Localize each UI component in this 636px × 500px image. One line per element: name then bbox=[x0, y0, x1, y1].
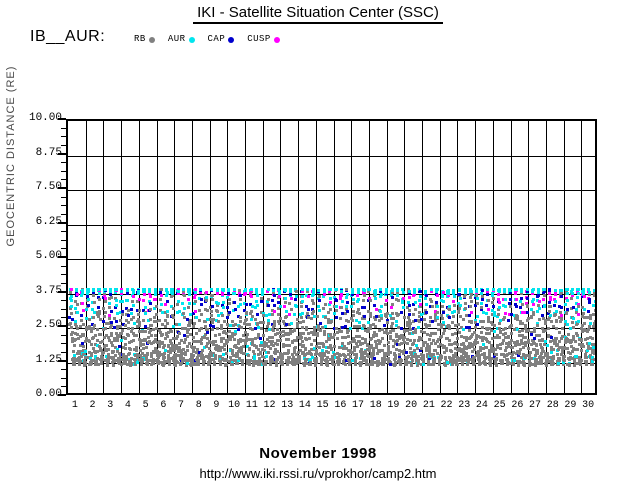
data-point-rb bbox=[93, 301, 96, 304]
data-point-aur bbox=[323, 290, 326, 293]
data-point-aur bbox=[70, 305, 73, 308]
data-point-aur bbox=[250, 288, 253, 291]
data-point-aur bbox=[217, 302, 220, 305]
data-point-rb bbox=[128, 352, 131, 355]
data-point-aur bbox=[357, 298, 360, 301]
data-point-rb bbox=[284, 301, 287, 304]
data-point-aur bbox=[85, 308, 88, 311]
data-point-rb bbox=[530, 316, 533, 319]
data-point-rb bbox=[504, 349, 507, 352]
data-point-rb bbox=[499, 347, 502, 350]
data-point-cap bbox=[537, 294, 540, 297]
data-point-rb bbox=[497, 313, 500, 316]
data-point-aur bbox=[564, 303, 567, 306]
data-point-rb bbox=[92, 347, 95, 350]
data-point-aur bbox=[178, 323, 181, 326]
data-point-aur bbox=[210, 288, 213, 291]
data-point-rb bbox=[217, 320, 220, 323]
data-point-aur bbox=[188, 290, 191, 293]
data-point-aur bbox=[352, 298, 355, 301]
data-point-cusp bbox=[307, 295, 310, 298]
legend-item-aur: AUR bbox=[168, 34, 195, 44]
legend-item-label: AUR bbox=[168, 34, 186, 44]
data-point-aur bbox=[239, 303, 242, 306]
data-point-aur bbox=[447, 292, 450, 295]
data-point-rb bbox=[225, 352, 228, 355]
data-point-aur bbox=[453, 295, 456, 298]
data-point-rb bbox=[96, 328, 99, 331]
data-point-aur bbox=[583, 308, 586, 311]
data-point-rb bbox=[129, 348, 132, 351]
data-point-aur bbox=[253, 355, 256, 358]
data-point-rb bbox=[107, 359, 110, 362]
x-axis-tick-labels: 1234567891011121314151617181920212223242… bbox=[66, 400, 597, 414]
data-point-rb bbox=[458, 307, 461, 310]
data-point-cusp bbox=[205, 291, 208, 294]
page-title-text: IKI - Satellite Situation Center (SSC) bbox=[193, 4, 443, 24]
data-point-rb bbox=[186, 349, 189, 352]
data-point-aur bbox=[575, 308, 578, 311]
data-point-rb bbox=[188, 324, 191, 327]
data-point-aur bbox=[436, 305, 439, 308]
data-point-rb bbox=[223, 320, 226, 323]
data-point-rb bbox=[104, 300, 107, 303]
data-point-aur bbox=[566, 292, 569, 295]
data-point-rb bbox=[107, 353, 110, 356]
data-point-cusp bbox=[554, 292, 557, 295]
data-point-rb bbox=[580, 349, 583, 352]
data-point-rb bbox=[248, 323, 251, 326]
grid-line-vertical bbox=[457, 121, 458, 393]
data-point-rb bbox=[509, 342, 512, 345]
data-point-rb bbox=[323, 330, 326, 333]
data-point-rb bbox=[312, 310, 315, 313]
data-point-cap bbox=[391, 296, 394, 299]
data-point-aur bbox=[132, 289, 135, 292]
data-point-rb bbox=[172, 316, 175, 319]
data-point-aur bbox=[402, 306, 405, 309]
data-point-rb bbox=[492, 297, 495, 300]
data-point-aur bbox=[538, 307, 541, 310]
data-point-rb bbox=[161, 333, 164, 336]
data-point-rb bbox=[430, 300, 433, 303]
data-point-aur bbox=[379, 310, 382, 313]
data-point-rb bbox=[211, 321, 214, 324]
data-point-cusp bbox=[187, 298, 190, 301]
data-point-rb bbox=[150, 324, 153, 327]
plot-area bbox=[66, 119, 597, 395]
data-point-rb bbox=[88, 318, 91, 321]
data-point-rb bbox=[464, 302, 467, 305]
y-tick-label: 6.25 bbox=[2, 217, 62, 228]
data-point-rb bbox=[571, 321, 574, 324]
data-point-rb bbox=[205, 299, 208, 302]
data-point-rb bbox=[92, 294, 95, 297]
data-point-aur bbox=[199, 288, 202, 291]
data-point-aur bbox=[317, 305, 320, 308]
data-point-aur bbox=[144, 312, 147, 315]
data-point-aur bbox=[115, 304, 118, 307]
data-point-aur bbox=[414, 301, 417, 304]
data-point-rb bbox=[352, 310, 355, 313]
data-point-rb bbox=[411, 355, 414, 358]
data-point-aur bbox=[413, 291, 416, 294]
data-point-cap bbox=[319, 322, 322, 325]
data-point-rb bbox=[262, 321, 265, 324]
data-point-cusp bbox=[288, 313, 291, 316]
data-point-rb bbox=[369, 299, 372, 302]
data-point-rb bbox=[381, 349, 384, 352]
data-point-rb bbox=[473, 362, 476, 365]
data-point-rb bbox=[389, 351, 392, 354]
data-point-rb bbox=[389, 335, 392, 338]
data-point-cusp bbox=[82, 309, 85, 312]
data-point-cap bbox=[526, 297, 529, 300]
data-point-aur bbox=[459, 297, 462, 300]
data-point-rb bbox=[108, 306, 111, 309]
data-point-rb bbox=[200, 313, 203, 316]
data-point-rb bbox=[434, 332, 437, 335]
data-point-cusp bbox=[160, 294, 163, 297]
data-point-rb bbox=[428, 348, 431, 351]
data-point-rb bbox=[214, 340, 217, 343]
data-point-rb bbox=[154, 334, 157, 337]
data-point-rb bbox=[340, 306, 343, 309]
data-point-rb bbox=[532, 313, 535, 316]
data-point-rb bbox=[390, 325, 393, 328]
data-point-rb bbox=[510, 324, 513, 327]
data-point-aur bbox=[233, 292, 236, 295]
data-point-cap bbox=[530, 333, 533, 336]
data-point-aur bbox=[188, 302, 191, 305]
data-point-aur bbox=[329, 288, 332, 291]
data-point-rb bbox=[281, 361, 284, 364]
data-point-cusp bbox=[149, 295, 152, 298]
data-point-rb bbox=[593, 329, 595, 332]
data-point-aur bbox=[154, 288, 157, 291]
data-point-cap bbox=[492, 305, 495, 308]
data-point-rb bbox=[203, 360, 206, 363]
data-point-rb bbox=[239, 316, 242, 319]
data-point-rb bbox=[137, 313, 140, 316]
data-point-rb bbox=[384, 303, 387, 306]
data-point-rb bbox=[574, 340, 577, 343]
data-point-aur bbox=[458, 288, 461, 291]
data-point-rb bbox=[322, 307, 325, 310]
data-point-rb bbox=[104, 327, 107, 330]
data-point-rb bbox=[300, 336, 303, 339]
data-point-aur bbox=[424, 291, 427, 294]
data-point-rb bbox=[296, 325, 299, 328]
data-point-aur bbox=[183, 307, 186, 310]
data-point-rb bbox=[448, 308, 451, 311]
data-point-rb bbox=[132, 339, 135, 342]
data-point-cusp bbox=[81, 302, 84, 305]
data-point-aur bbox=[144, 306, 147, 309]
data-point-rb bbox=[124, 337, 127, 340]
data-point-rb bbox=[444, 356, 447, 359]
data-point-aur bbox=[126, 288, 129, 291]
data-point-aur bbox=[374, 293, 377, 296]
data-point-rb bbox=[570, 297, 573, 300]
data-point-aur bbox=[70, 295, 73, 298]
data-point-aur bbox=[84, 350, 87, 353]
data-point-rb bbox=[496, 346, 499, 349]
data-point-rb bbox=[579, 363, 582, 366]
data-point-rb bbox=[269, 347, 272, 350]
data-point-aur bbox=[588, 291, 591, 294]
data-point-rb bbox=[242, 345, 245, 348]
data-point-rb bbox=[170, 330, 173, 333]
data-point-rb bbox=[428, 324, 431, 327]
data-point-rb bbox=[304, 348, 307, 351]
data-point-rb bbox=[158, 345, 161, 348]
data-point-cap bbox=[115, 320, 118, 323]
data-point-rb bbox=[568, 363, 571, 366]
data-point-rb bbox=[545, 364, 548, 367]
y-tick-label: 7.50 bbox=[2, 182, 62, 193]
data-point-aur bbox=[532, 298, 535, 301]
data-point-cusp bbox=[452, 300, 455, 303]
data-point-aur bbox=[357, 288, 360, 291]
data-point-rb bbox=[345, 288, 348, 291]
data-point-rb bbox=[582, 345, 585, 348]
data-point-rb bbox=[278, 322, 281, 325]
y-tick-label: 2.50 bbox=[2, 320, 62, 331]
data-point-rb bbox=[247, 354, 250, 357]
data-point-rb bbox=[187, 306, 190, 309]
data-point-cusp bbox=[408, 296, 411, 299]
data-point-cusp bbox=[442, 291, 445, 294]
data-point-rb bbox=[516, 318, 519, 321]
data-point-aur bbox=[279, 305, 282, 308]
data-point-rb bbox=[269, 363, 272, 366]
data-point-aur bbox=[267, 319, 270, 322]
legend-item-cap: CAP bbox=[208, 34, 235, 44]
data-point-aur bbox=[87, 298, 90, 301]
data-point-aur bbox=[301, 295, 304, 298]
data-point-cusp bbox=[385, 299, 388, 302]
data-point-cap bbox=[425, 294, 428, 297]
data-point-rb bbox=[96, 350, 99, 353]
data-point-cap bbox=[206, 331, 209, 334]
data-point-aur bbox=[216, 289, 219, 292]
data-point-aur bbox=[557, 362, 560, 365]
data-point-rb bbox=[231, 363, 234, 366]
data-point-rb bbox=[295, 339, 298, 342]
data-point-rb bbox=[240, 326, 243, 329]
data-point-aur bbox=[317, 289, 320, 292]
data-point-cap bbox=[588, 301, 591, 304]
data-point-rb bbox=[262, 334, 265, 337]
data-point-rb bbox=[558, 331, 561, 334]
data-point-cusp bbox=[143, 293, 146, 296]
data-point-rb bbox=[121, 329, 124, 332]
data-point-aur bbox=[442, 300, 445, 303]
data-point-cusp bbox=[132, 295, 135, 298]
legend-item-label: CAP bbox=[208, 34, 226, 44]
data-point-aur bbox=[396, 289, 399, 292]
data-point-rb bbox=[422, 355, 425, 358]
data-point-aur bbox=[121, 300, 124, 303]
data-point-rb bbox=[593, 294, 595, 297]
legend: RBAURCAPCUSP bbox=[134, 34, 280, 44]
data-point-rb bbox=[277, 313, 280, 316]
data-point-rb bbox=[433, 357, 436, 360]
data-point-aur bbox=[75, 288, 78, 291]
data-point-aur bbox=[108, 302, 111, 305]
data-point-rb bbox=[403, 316, 406, 319]
data-point-aur bbox=[346, 293, 349, 296]
data-point-rb bbox=[468, 329, 471, 332]
data-point-cusp bbox=[402, 297, 405, 300]
data-point-rb bbox=[329, 308, 332, 311]
data-point-rb bbox=[136, 300, 139, 303]
data-point-cap bbox=[130, 308, 133, 311]
data-point-rb bbox=[138, 309, 141, 312]
data-point-aur bbox=[250, 318, 253, 321]
data-point-cap bbox=[526, 311, 529, 314]
data-point-rb bbox=[90, 330, 93, 333]
data-point-rb bbox=[482, 320, 485, 323]
data-point-cap bbox=[509, 298, 512, 301]
data-point-rb bbox=[521, 303, 524, 306]
data-point-aur bbox=[544, 340, 547, 343]
data-point-aur bbox=[577, 292, 580, 295]
data-point-rb bbox=[216, 310, 219, 313]
data-point-rb bbox=[367, 330, 370, 333]
data-point-rb bbox=[315, 349, 318, 352]
x-axis-title: November 1998 bbox=[0, 445, 636, 462]
data-point-rb bbox=[281, 357, 284, 360]
data-point-aur bbox=[396, 294, 399, 297]
data-point-rb bbox=[163, 352, 166, 355]
data-point-aur bbox=[295, 305, 298, 308]
data-point-cap bbox=[239, 294, 242, 297]
data-point-cap bbox=[212, 325, 215, 328]
data-point-rb bbox=[414, 308, 417, 311]
data-point-rb bbox=[236, 362, 239, 365]
data-point-cap bbox=[408, 304, 411, 307]
grid-line-vertical bbox=[440, 121, 441, 393]
data-point-aur bbox=[335, 288, 338, 291]
data-point-rb bbox=[572, 326, 575, 329]
data-point-cap bbox=[510, 313, 513, 316]
data-point-aur bbox=[357, 291, 360, 294]
data-point-rb bbox=[323, 333, 326, 336]
data-point-rb bbox=[411, 359, 414, 362]
data-point-rb bbox=[287, 351, 290, 354]
data-point-cusp bbox=[138, 298, 141, 301]
data-point-rb bbox=[456, 363, 459, 366]
data-point-rb bbox=[408, 309, 411, 312]
data-point-aur bbox=[261, 288, 264, 291]
plot-canvas bbox=[68, 121, 595, 393]
data-point-rb bbox=[192, 325, 195, 328]
data-point-rb bbox=[397, 299, 400, 302]
data-point-rb bbox=[385, 329, 388, 332]
data-point-rb bbox=[498, 322, 501, 325]
data-point-cap bbox=[200, 298, 203, 301]
data-point-rb bbox=[208, 347, 211, 350]
y-tick-mark-major bbox=[58, 360, 66, 362]
data-point-cap bbox=[346, 301, 349, 304]
data-point-rb bbox=[480, 331, 483, 334]
data-point-rb bbox=[245, 318, 248, 321]
y-tick-label: 0.00 bbox=[2, 389, 62, 400]
data-point-rb bbox=[354, 363, 357, 366]
data-point-rb bbox=[480, 306, 483, 309]
data-point-rb bbox=[120, 332, 123, 335]
data-point-aur bbox=[318, 309, 321, 312]
data-point-aur bbox=[537, 288, 540, 291]
data-point-rb bbox=[246, 333, 249, 336]
data-point-cusp bbox=[498, 301, 501, 304]
data-point-rb bbox=[552, 362, 555, 365]
data-point-rb bbox=[544, 322, 547, 325]
data-point-aur bbox=[476, 315, 479, 318]
data-point-rb bbox=[218, 333, 221, 336]
data-point-aur bbox=[504, 305, 507, 308]
data-point-cap bbox=[211, 305, 214, 308]
data-point-rb bbox=[321, 358, 324, 361]
data-point-aur bbox=[430, 288, 433, 291]
data-point-rb bbox=[257, 333, 260, 336]
data-point-aur bbox=[543, 305, 546, 308]
data-point-aur bbox=[358, 321, 361, 324]
data-point-rb bbox=[550, 320, 553, 323]
data-point-aur bbox=[571, 292, 574, 295]
data-point-cusp bbox=[532, 303, 535, 306]
data-point-rb bbox=[580, 359, 583, 362]
data-point-aur bbox=[335, 305, 338, 308]
data-point-aur bbox=[554, 300, 557, 303]
data-point-rb bbox=[392, 329, 395, 332]
data-point-rb bbox=[200, 342, 203, 345]
data-point-aur bbox=[566, 323, 569, 326]
data-point-aur bbox=[509, 289, 512, 292]
data-point-rb bbox=[386, 321, 389, 324]
data-point-aur bbox=[188, 293, 191, 296]
data-point-rb bbox=[316, 332, 319, 335]
data-point-cap bbox=[87, 304, 90, 307]
data-point-rb bbox=[182, 312, 185, 315]
data-point-rb bbox=[498, 336, 501, 339]
data-point-rb bbox=[82, 333, 85, 336]
data-point-cap bbox=[344, 325, 347, 328]
data-point-rb bbox=[276, 343, 279, 346]
data-point-rb bbox=[144, 330, 147, 333]
data-point-rb bbox=[594, 309, 595, 312]
data-point-aur bbox=[154, 293, 157, 296]
data-point-rb bbox=[72, 350, 75, 353]
data-point-aur bbox=[554, 289, 557, 292]
data-point-rb bbox=[315, 361, 318, 364]
legend-dot-icon bbox=[274, 37, 280, 43]
data-point-cap bbox=[335, 299, 338, 302]
data-point-aur bbox=[340, 290, 343, 293]
data-point-aur bbox=[126, 299, 129, 302]
data-point-cap bbox=[515, 305, 518, 308]
data-point-rb bbox=[585, 363, 588, 366]
data-point-aur bbox=[293, 313, 296, 316]
data-point-aur bbox=[486, 288, 489, 291]
data-point-rb bbox=[192, 336, 195, 339]
data-point-aur bbox=[408, 290, 411, 293]
data-point-rb bbox=[423, 318, 426, 321]
data-point-cap bbox=[80, 314, 83, 317]
data-point-rb bbox=[527, 347, 530, 350]
